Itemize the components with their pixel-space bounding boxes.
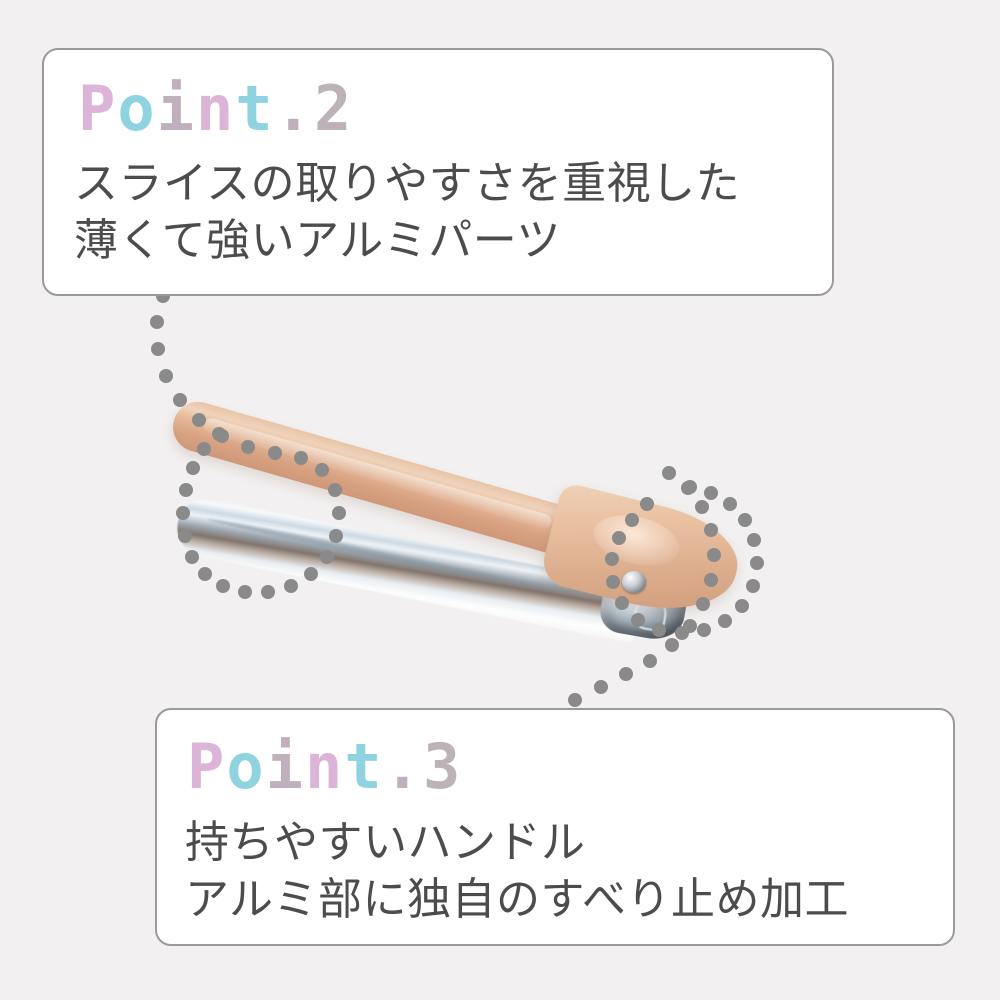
infographic-canvas: Point.2 スライスの取りやすさを重視した薄くて強いアルミパーツ Point… (0, 0, 1000, 1000)
point-body-line-0: スライスの取りやすさを重視した (74, 155, 740, 212)
point-title-char-6: 2 (314, 72, 353, 145)
product-image-hair-clip (150, 355, 770, 695)
callout-box-point2: Point.2 スライスの取りやすさを重視した薄くて強いアルミパーツ (42, 48, 834, 296)
point-title-char-0: P (187, 730, 226, 803)
callout-box-point3: Point.3 持ちやすいハンドルアルミ部に独自のすべり止め加工 (155, 708, 955, 946)
point-title-char-4: t (344, 730, 383, 803)
point-title-char-3: n (196, 72, 235, 145)
product-part-rivet (622, 571, 646, 593)
connector-dot-2 (151, 342, 165, 356)
point-title-char-1: o (117, 72, 156, 145)
point-body-point2: スライスの取りやすさを重視した薄くて強いアルミパーツ (74, 155, 740, 269)
point-title-char-4: t (235, 72, 274, 145)
point-body-line-0: 持ちやすいハンドル (185, 814, 849, 871)
point-title-point2: Point.2 (78, 78, 353, 140)
point-title-char-0: P (78, 72, 117, 145)
point-title-char-5: . (384, 730, 423, 803)
point-title-char-2: i (157, 72, 196, 145)
point-body-point3: 持ちやすいハンドルアルミ部に独自のすべり止め加工 (185, 814, 849, 928)
point-body-line-1: 薄くて強いアルミパーツ (74, 212, 740, 269)
connector-dot-0 (568, 693, 582, 707)
point-title-char-1: o (226, 730, 265, 803)
point-title-char-2: i (266, 730, 305, 803)
point-title-char-5: . (275, 72, 314, 145)
point-title-point3: Point.3 (187, 736, 462, 798)
point-title-char-3: n (305, 730, 344, 803)
point-title-char-6: 3 (423, 730, 462, 803)
point-body-line-1: アルミ部に独自のすべり止め加工 (185, 871, 849, 928)
connector-dot-1 (150, 315, 164, 329)
